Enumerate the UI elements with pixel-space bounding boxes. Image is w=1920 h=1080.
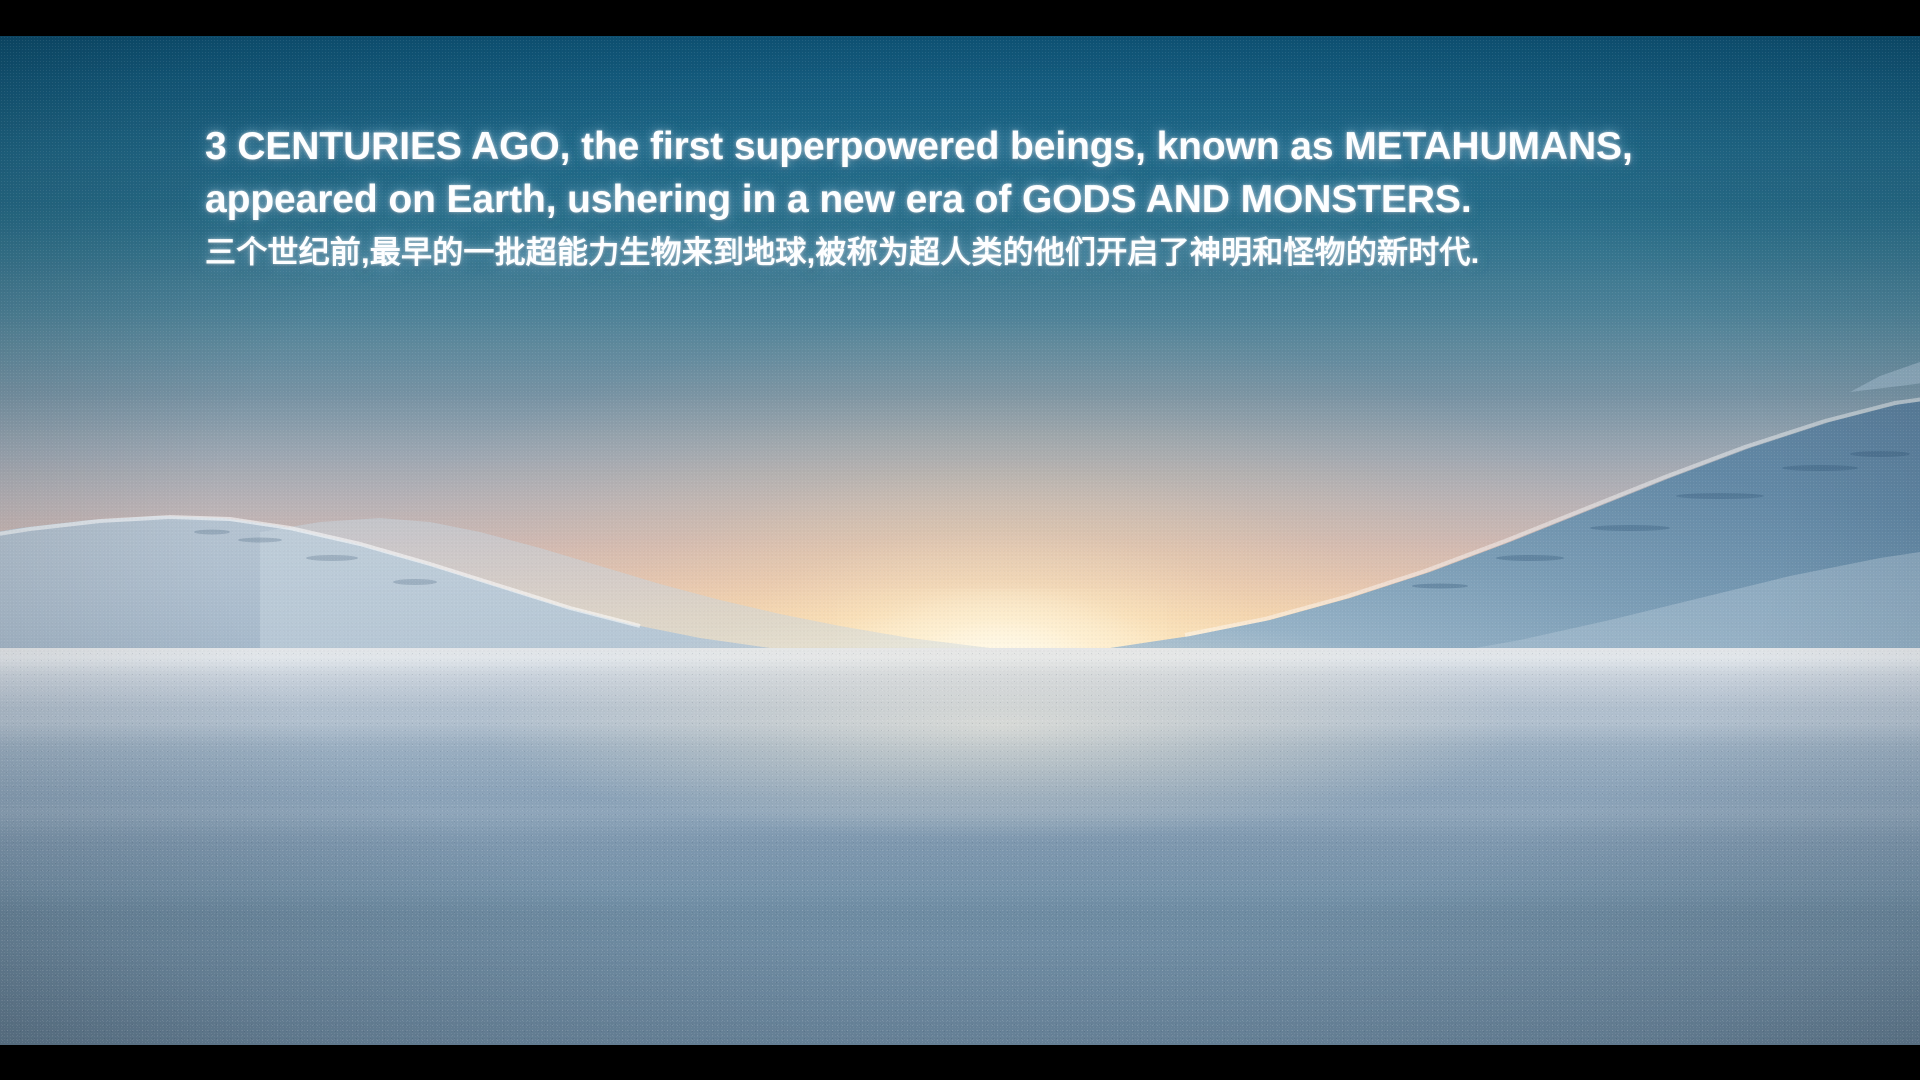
letterbox-bar-bottom	[0, 1045, 1920, 1080]
video-title-card: 3 CENTURIES AGO, the first superpowered …	[0, 0, 1920, 1080]
subtitle-block: 3 CENTURIES AGO, the first superpowered …	[205, 120, 1725, 275]
subtitle-english-line-1: 3 CENTURIES AGO, the first superpowered …	[205, 120, 1725, 173]
letterbox-bar-top	[0, 0, 1920, 36]
subtitle-chinese-line-1: 三个世纪前,最早的一批超能力生物来到地球,被称为超人类的他们开启了神明和怪物的新…	[205, 231, 1725, 275]
subtitle-english-line-2: appeared on Earth, ushering in a new era…	[205, 173, 1725, 226]
foreground-snow-plain	[0, 648, 1920, 1045]
